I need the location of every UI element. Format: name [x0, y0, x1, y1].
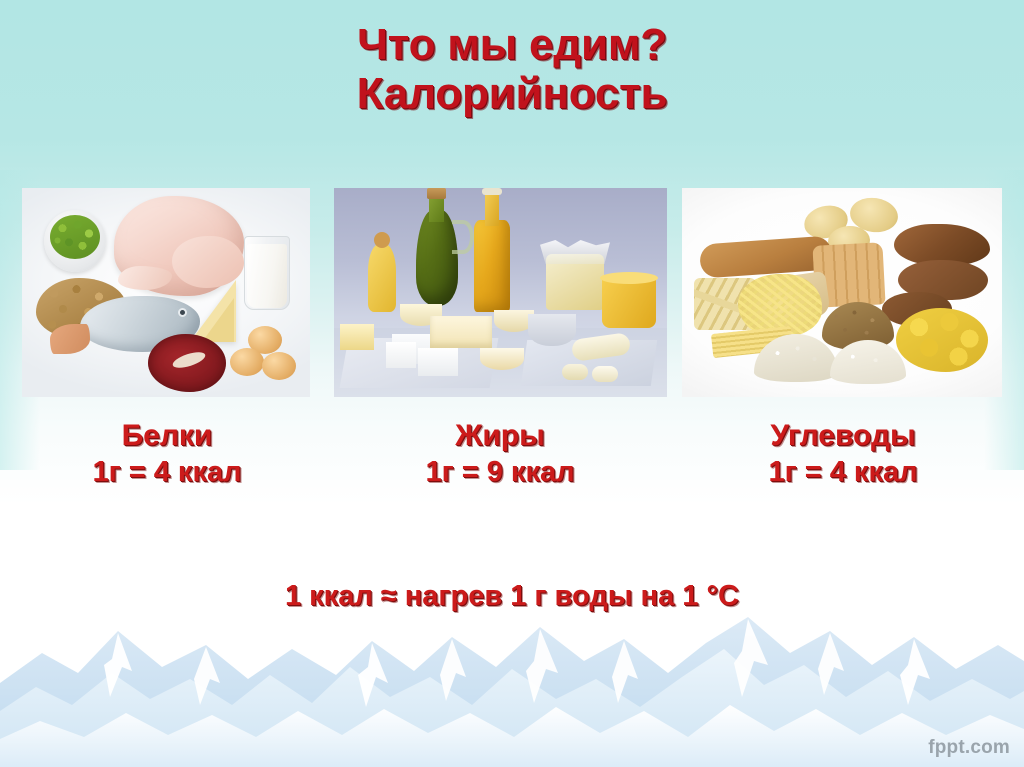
butter-block-shape — [430, 316, 492, 348]
slide-title: Что мы едим? Калорийность — [0, 20, 1024, 119]
bottle-handle-shape — [452, 220, 474, 254]
slide-canvas: Что мы едим? Калорийность — [0, 0, 1024, 767]
kcal-definition-footnote: 1 ккал ≈ нагрев 1 г воды на 1 °C — [0, 580, 1024, 613]
category-label-proteins: Белки 1г = 4 ккал — [12, 418, 322, 490]
category-name-fats: Жиры — [330, 418, 670, 453]
sunflower-oil-bottle-neck-shape — [485, 192, 499, 226]
bottle-lip-shape — [482, 188, 502, 195]
egg-shape — [262, 352, 296, 380]
cork-stopper-shape — [427, 188, 446, 199]
small-oil-bottle-shape — [368, 244, 396, 312]
plastic-wrapper-shape — [540, 240, 610, 264]
lard-cube-shape — [386, 342, 416, 368]
category-label-fats: Жиры 1г = 9 ккал — [330, 418, 670, 490]
milk-liquid-shape — [247, 244, 287, 308]
mountain-mid-ridge — [0, 649, 1024, 767]
fish-eye-shape — [178, 308, 187, 317]
title-line-1: Что мы едим? — [0, 20, 1024, 69]
spread-bowl-shape — [528, 314, 576, 346]
farfalle-pasta-shape — [896, 308, 988, 372]
title-line-2: Калорийность — [0, 69, 1024, 118]
margarine-roll-shape — [562, 364, 588, 380]
mountain-range-decoration — [0, 587, 1024, 767]
lard-cube-shape — [418, 348, 458, 376]
carbohydrate-foods-photo — [682, 188, 1002, 397]
protein-foods-photo — [22, 188, 310, 397]
fish-tail-shape — [50, 324, 90, 354]
category-value-carbs: 1г = 4 ккал — [678, 455, 1008, 489]
figurine-head-shape — [374, 232, 390, 248]
margarine-roll-shape — [592, 366, 618, 382]
mountain-front-ridge — [0, 705, 1024, 767]
fppt-watermark: fppt.com — [928, 737, 1010, 759]
mountain-back-ridge — [0, 617, 1024, 767]
sunflower-oil-bottle-shape — [474, 220, 510, 312]
egg-shape — [230, 348, 264, 376]
green-herbs-shape — [50, 215, 100, 259]
category-label-carbs: Углеводы 1г = 4 ккал — [678, 418, 1008, 490]
butter-block-shape — [340, 324, 374, 350]
butter-dish-shape — [480, 348, 524, 370]
category-value-fats: 1г = 9 ккал — [330, 455, 670, 489]
butter-tub-lid-shape — [600, 272, 658, 284]
category-name-proteins: Белки — [12, 418, 322, 453]
category-name-carbs: Углеводы — [678, 418, 1008, 453]
mountain-snow-highlights — [104, 619, 930, 707]
fat-foods-photo — [334, 188, 667, 397]
category-value-proteins: 1г = 4 ккал — [12, 455, 322, 489]
cheese-wedge-front-shape — [202, 298, 234, 342]
